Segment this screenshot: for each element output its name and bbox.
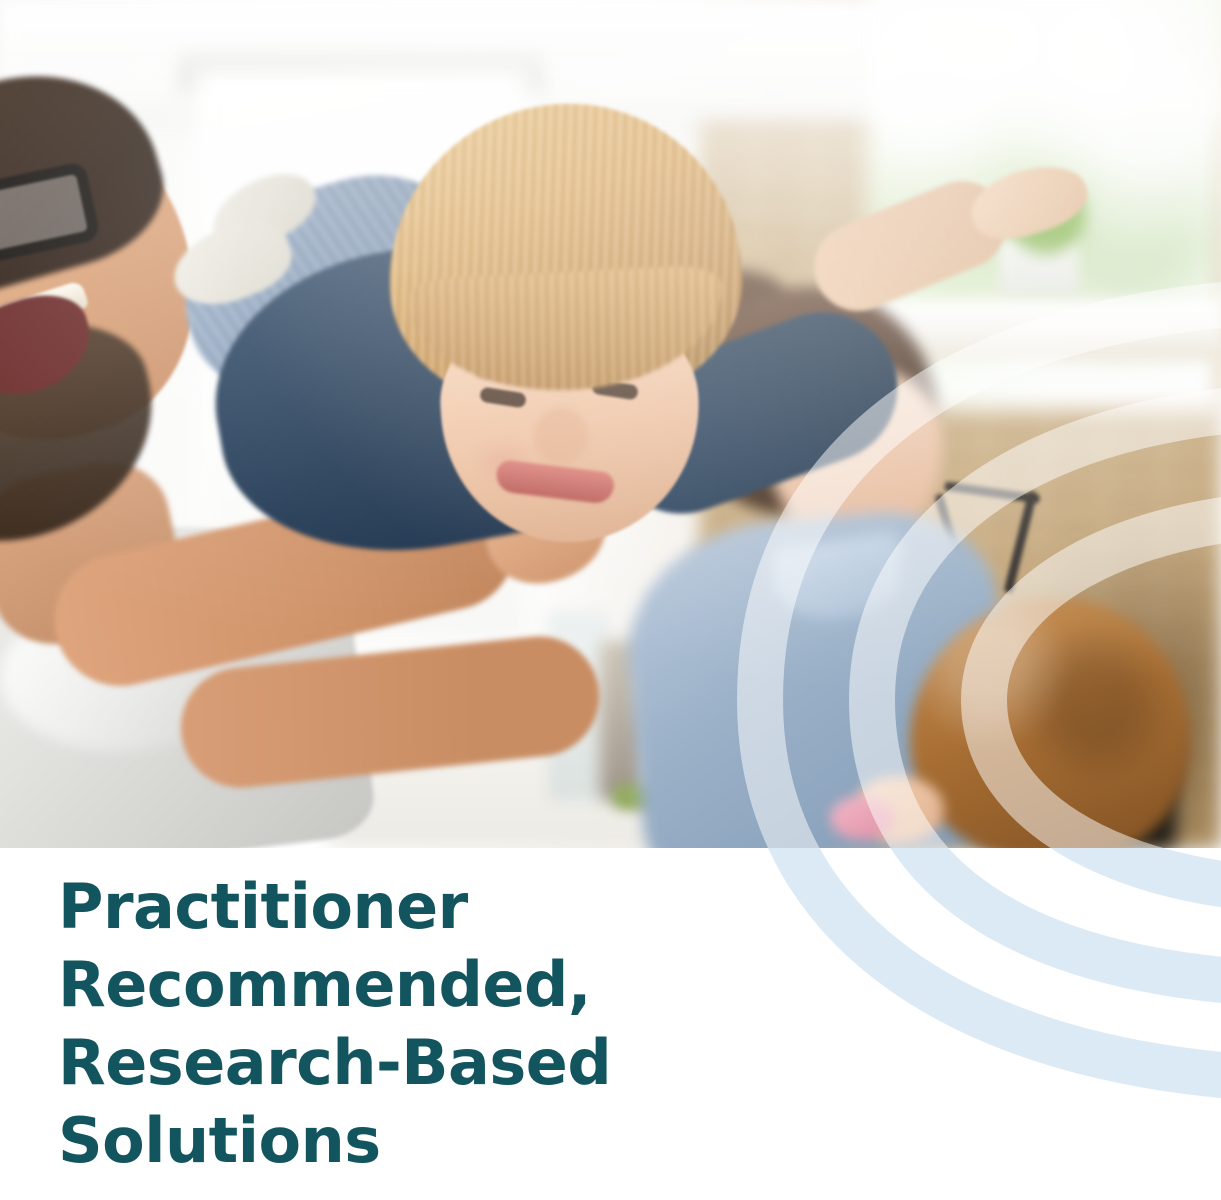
poster-card: Practitioner Recommended, Research-Based… <box>0 0 1221 1200</box>
girl-pink-object <box>830 796 894 840</box>
headline-line-2: Recommended, <box>58 946 718 1024</box>
headline-line-4: Solutions <box>58 1102 718 1180</box>
person-girl <box>900 580 1200 848</box>
girl-curly-hair <box>910 598 1190 848</box>
person-child-flying <box>150 60 910 720</box>
child-nose <box>534 408 588 464</box>
headline-line-1: Practitioner <box>58 868 718 946</box>
page-title: Practitioner Recommended, Research-Based… <box>58 868 718 1180</box>
headline-line-3: Research-Based <box>58 1024 718 1102</box>
hero-photo <box>0 0 1221 848</box>
